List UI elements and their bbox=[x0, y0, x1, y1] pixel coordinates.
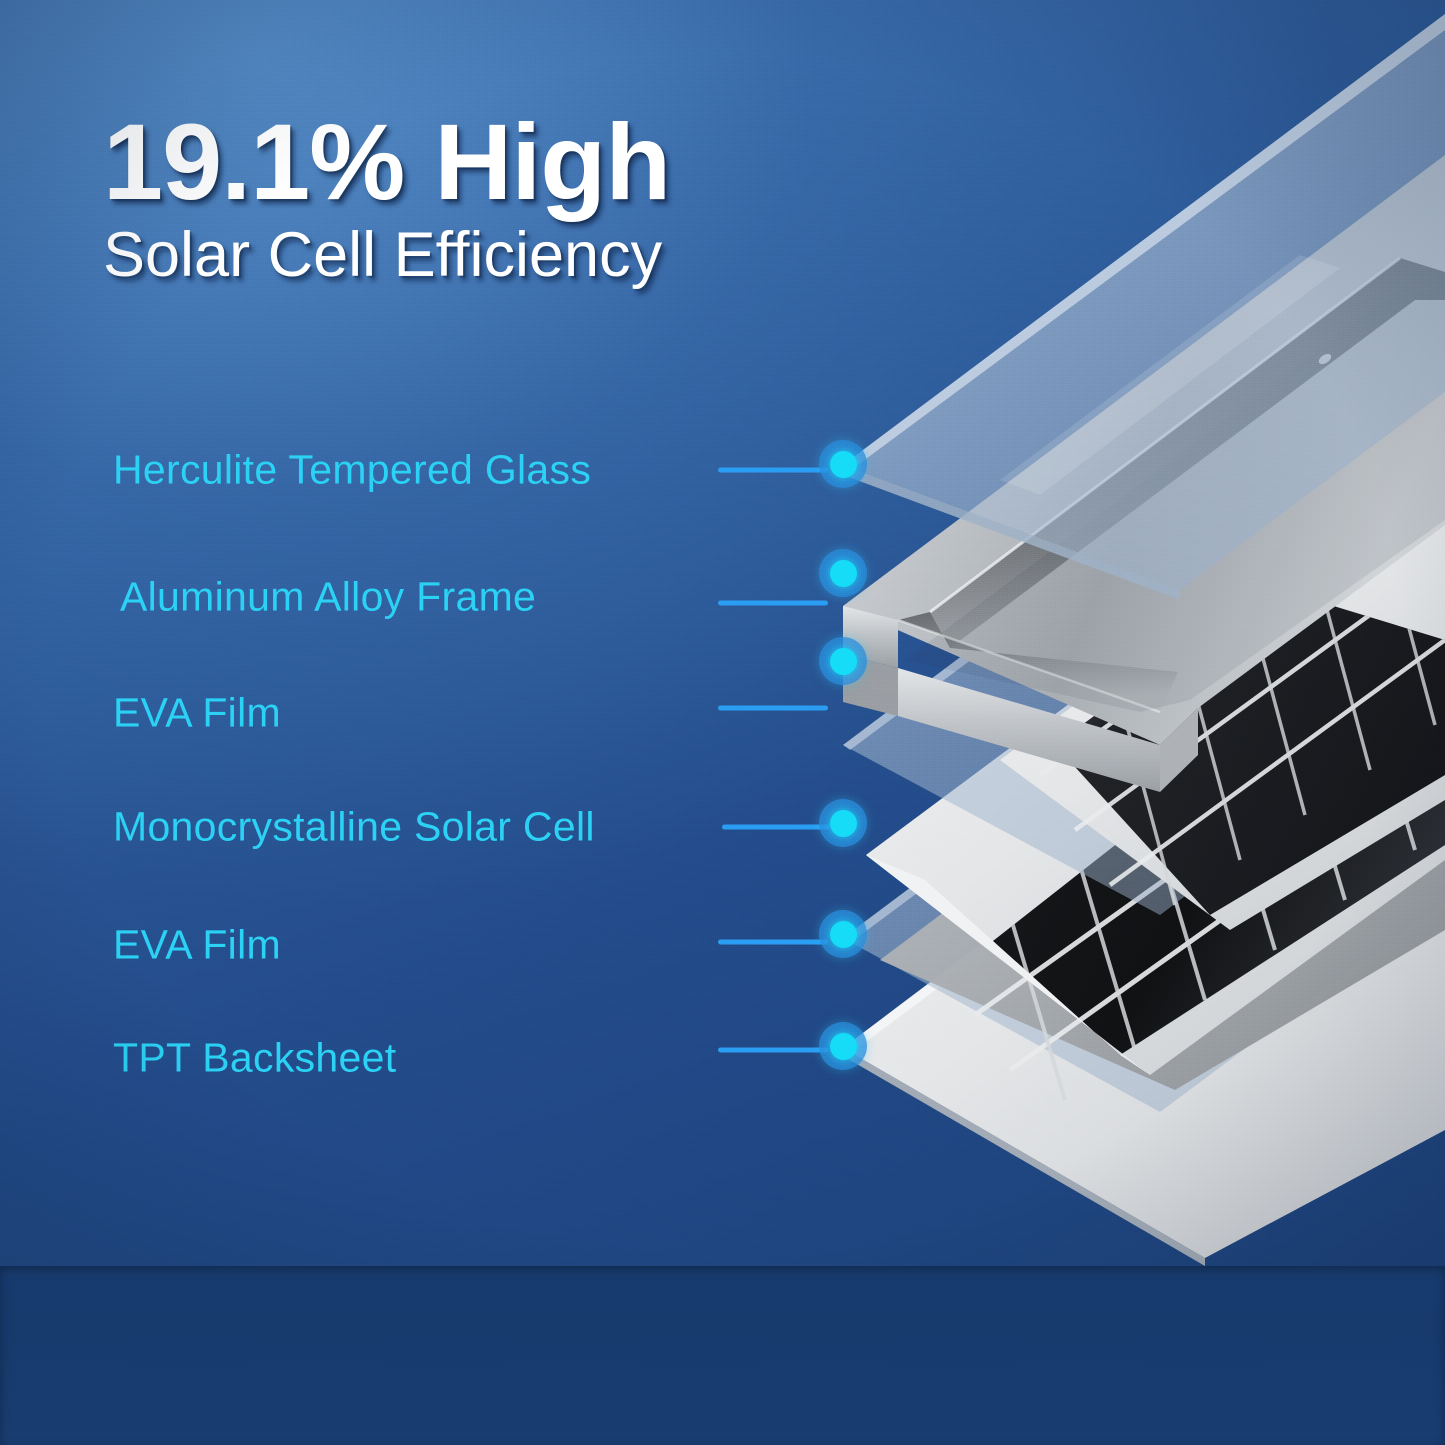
callout-dot-icon-solar-cell[interactable] bbox=[819, 799, 867, 847]
headline-main: 19.1%High bbox=[103, 108, 863, 216]
callout-label-tempered-glass: Herculite Tempered Glass bbox=[113, 447, 591, 494]
leader-line-eva-film-upper bbox=[718, 706, 828, 711]
callout-dot-icon-aluminum-frame[interactable] bbox=[819, 549, 867, 597]
callout-label-solar-cell: Monocrystalline Solar Cell bbox=[113, 804, 595, 851]
callout-label-eva-film-lower: EVA Film bbox=[113, 922, 281, 969]
leader-line-tpt-backsheet bbox=[718, 1048, 828, 1053]
callout-dot-icon-tpt-backsheet[interactable] bbox=[819, 1022, 867, 1070]
headline-block: 19.1%High Solar Cell Efficiency bbox=[103, 108, 863, 288]
callout-dot-icon-eva-film-upper[interactable] bbox=[819, 637, 867, 685]
infographic-stage: 19.1%High Solar Cell Efficiency Herculit… bbox=[0, 0, 1445, 1445]
callout-dot-icon-tempered-glass[interactable] bbox=[819, 440, 867, 488]
headline-emphasis: High bbox=[434, 101, 670, 222]
leader-line-solar-cell bbox=[722, 825, 830, 830]
callout-label-eva-film-upper: EVA Film bbox=[113, 690, 281, 737]
callout-dot-icon-eva-film-lower[interactable] bbox=[819, 910, 867, 958]
leader-line-aluminum-frame bbox=[718, 601, 828, 606]
leader-line-tempered-glass bbox=[718, 468, 828, 473]
callout-label-aluminum-frame: Aluminum Alloy Frame bbox=[120, 574, 536, 621]
callout-label-tpt-backsheet: TPT Backsheet bbox=[113, 1035, 396, 1082]
headline-stat: 19.1% bbox=[103, 101, 404, 222]
headline-subtitle: Solar Cell Efficiency bbox=[103, 222, 863, 288]
leader-line-eva-film-lower bbox=[718, 940, 828, 945]
bottom-band-texture bbox=[0, 1266, 1445, 1445]
bottom-band bbox=[0, 1266, 1445, 1445]
